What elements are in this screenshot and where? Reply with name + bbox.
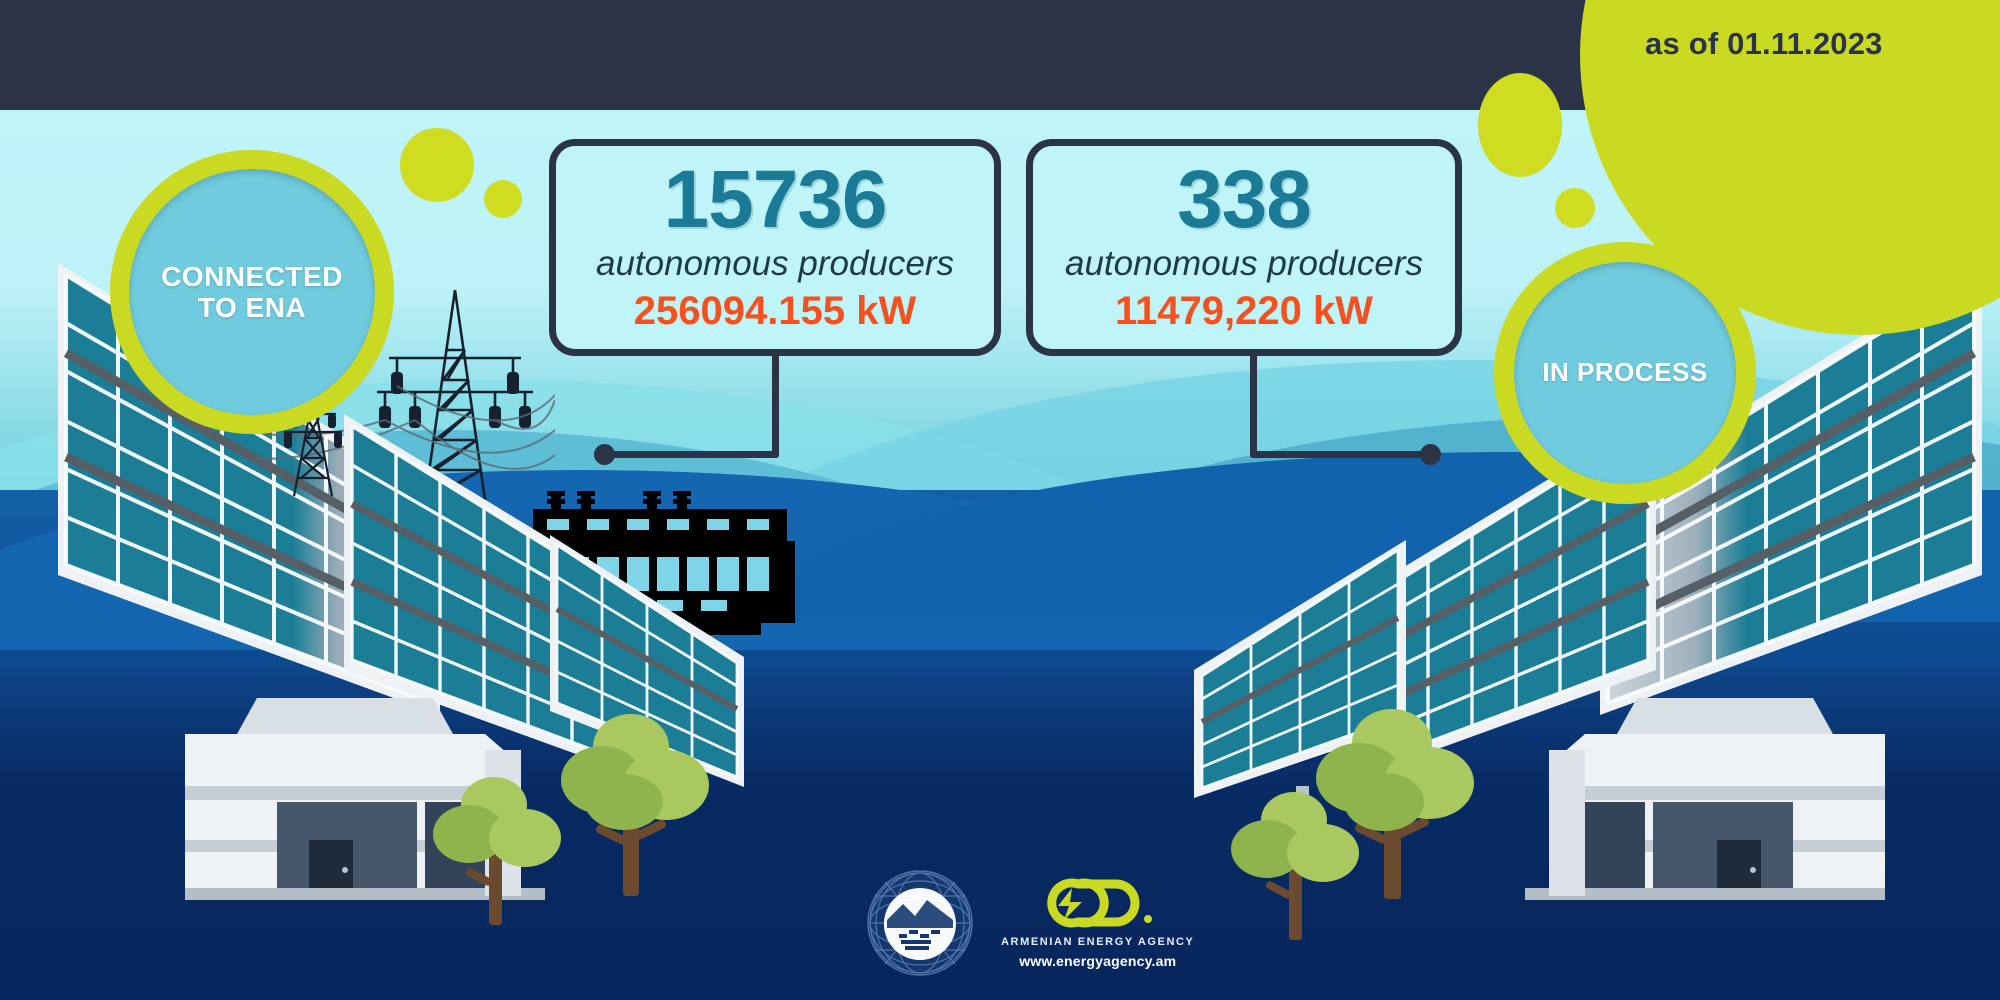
decor-dot-large-right [1478,73,1562,177]
connector-1-vertical [772,350,779,458]
connector-1-endpoint-dot [594,444,615,465]
stat-count-label-in-process: autonomous producers [1065,245,1423,284]
infographic-root: CONNECTED TO ENA IN PROCESS 15736 autono… [0,0,2000,1000]
connector-2-endpoint-dot [1420,444,1441,465]
stat-count-connected: 15736 [663,161,886,239]
badge-in-process[interactable]: IN PROCESS [1514,262,1736,484]
stat-card-in-process[interactable]: 338 autonomous producers 11479,220 kW [1026,139,1462,356]
energy-agency-logo-block: ARMENIAN ENERGY AGENCY www.energyagency.… [1001,868,1195,969]
decor-dot-large-left [400,128,474,202]
badge-connected-to-ena[interactable]: CONNECTED TO ENA [129,169,375,415]
building-right [1455,690,1885,920]
stat-count-label-connected: autonomous producers [596,245,954,284]
tree-left-small [425,775,575,925]
connected-line1: CONNECTED [161,261,343,292]
as-of-date: as of 01.11.2023 [1645,26,1883,62]
connector-1-horizontal [602,451,779,458]
stat-capacity-in-process: 11479,220 kW [1115,289,1373,334]
in-process-badge-label: IN PROCESS [1542,358,1707,387]
armenia-emblem-icon [865,868,975,978]
footer-logos: ARMENIAN ENERGY AGENCY www.energyagency.… [865,868,1195,978]
tree-right-small [1225,790,1375,940]
agency-website[interactable]: www.energyagency.am [1019,953,1176,969]
ea-infinity-icon [1032,872,1164,934]
decor-dot-small-left [484,180,522,218]
agency-name: ARMENIAN ENERGY AGENCY [1001,936,1195,948]
connector-2-horizontal [1250,451,1430,458]
connected-line2: TO ENA [198,292,306,323]
decor-dot-small-right [1555,188,1595,228]
stat-capacity-connected: 256094.155 kW [634,289,916,334]
stat-card-connected[interactable]: 15736 autonomous producers 256094.155 kW [549,139,1001,356]
connected-badge-label: CONNECTED TO ENA [161,261,343,324]
connector-2-vertical [1250,350,1257,458]
stat-count-in-process: 338 [1177,161,1311,239]
